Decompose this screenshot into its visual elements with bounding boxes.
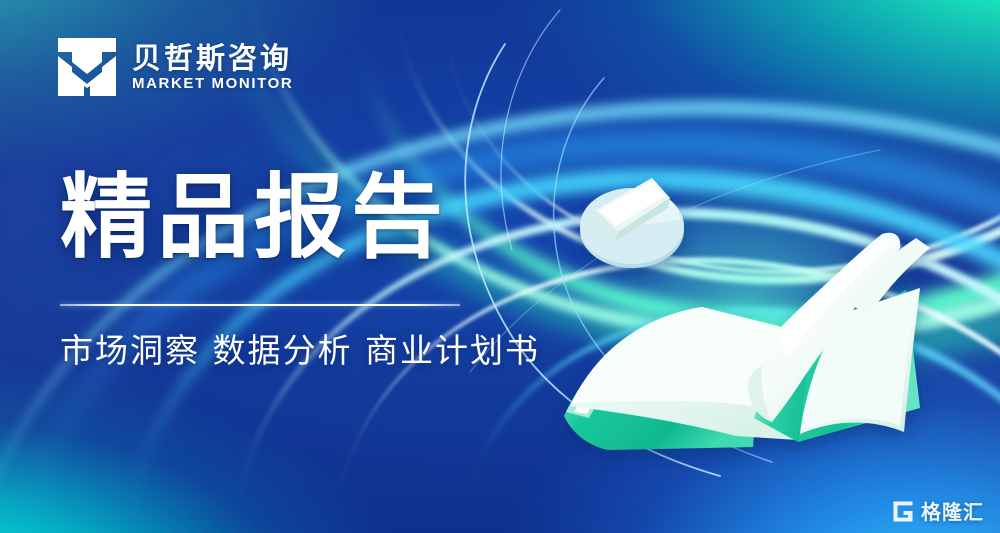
market-monitor-m-logo-icon — [56, 36, 118, 98]
brand-logo-text: 贝哲斯咨询 MARKET MONITOR — [132, 44, 293, 91]
brand-name-cn: 贝哲斯咨询 — [132, 44, 293, 73]
open-book-illustration — [548, 150, 938, 450]
page-title: 精品报告 — [60, 168, 448, 267]
brand-name-en: MARKET MONITOR — [132, 76, 293, 91]
page-subtitle: 市场洞察 数据分析 商业计划书 — [60, 330, 540, 373]
gelonghui-g-icon — [891, 500, 914, 523]
title-divider — [60, 304, 460, 306]
watermark-text: 格隆汇 — [921, 502, 984, 522]
watermark: 格隆汇 — [891, 500, 984, 523]
brand-logo: 贝哲斯咨询 MARKET MONITOR — [56, 36, 293, 98]
report-banner: 贝哲斯咨询 MARKET MONITOR 精品报告 市场洞察 数据分析 商业计划… — [0, 0, 1000, 533]
